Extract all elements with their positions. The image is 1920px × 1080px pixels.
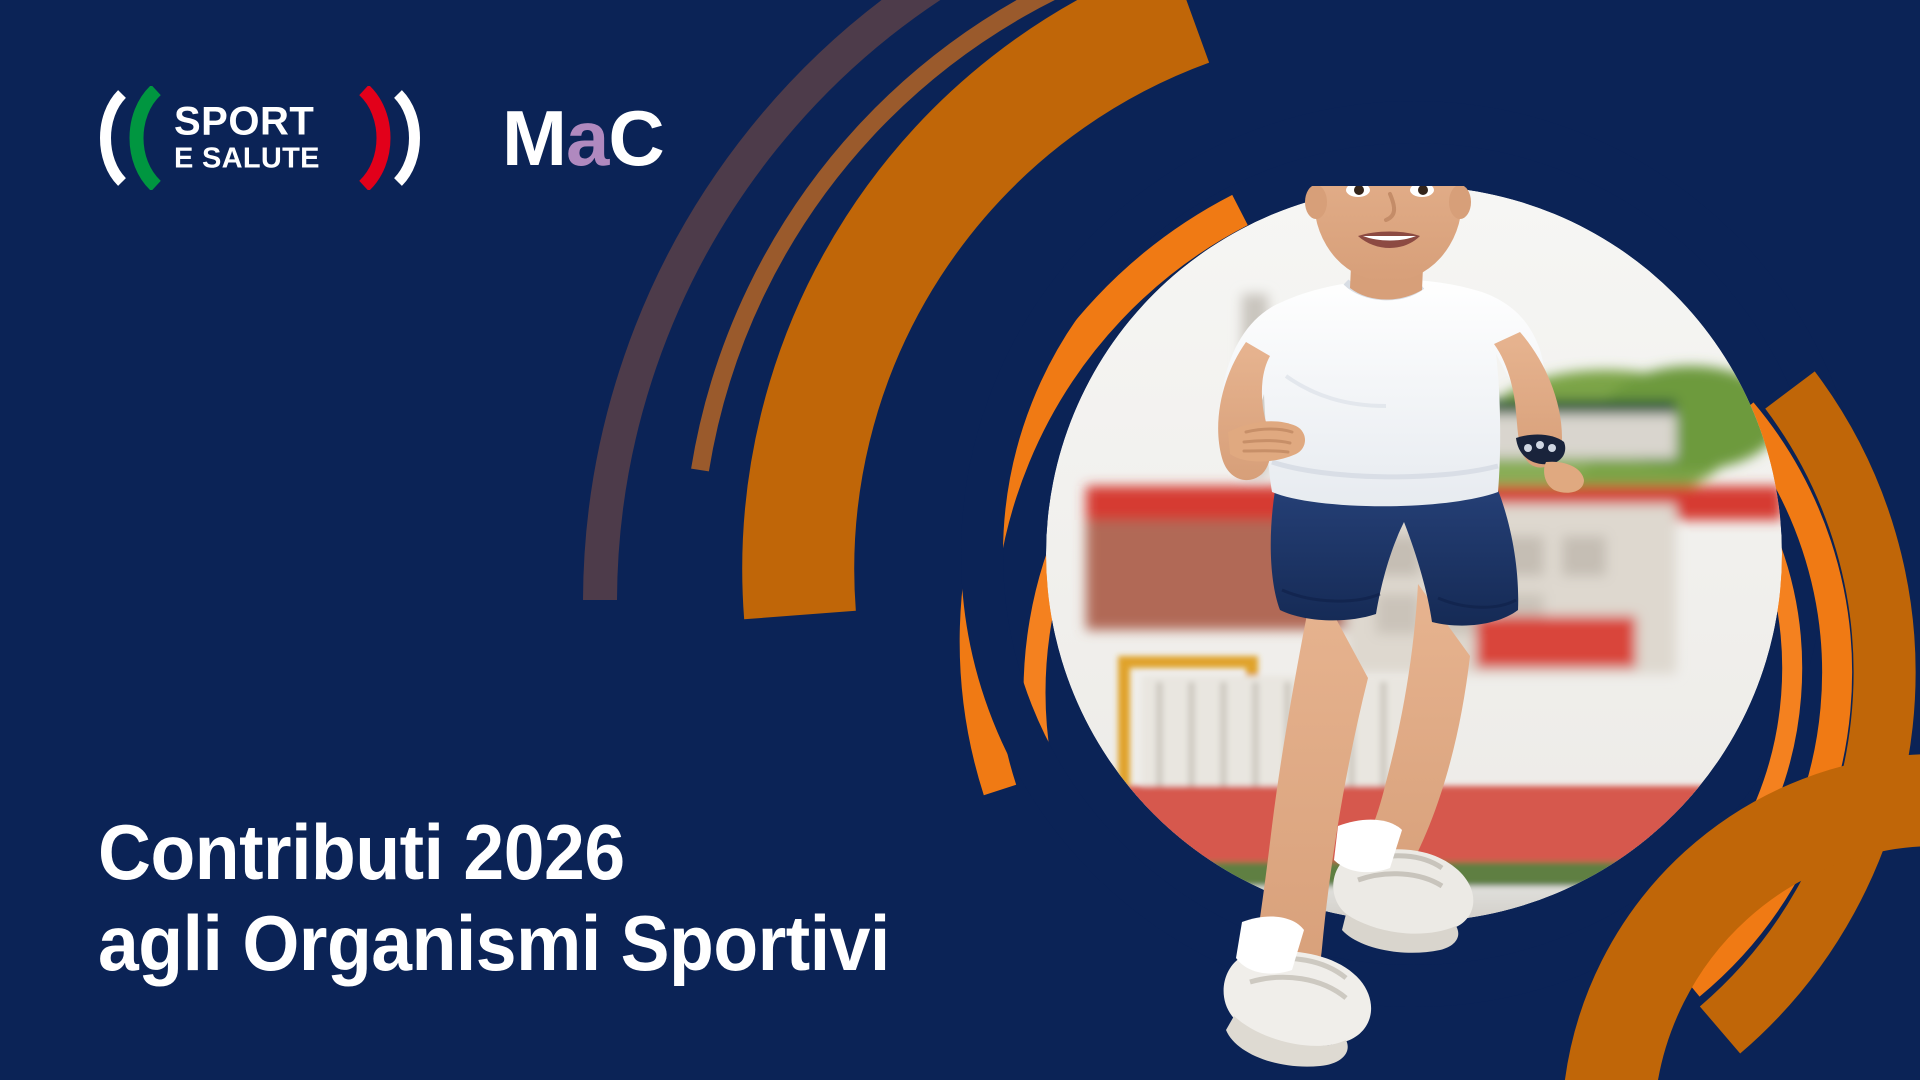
logo-arc-white-right xyxy=(398,94,415,182)
logo-arc-red xyxy=(364,90,384,186)
page-title: Contributi 2026 agli Organismi Sportivi xyxy=(98,807,890,988)
photo-inner xyxy=(1046,186,1782,922)
headline-line-2: agli Organismi Sportivi xyxy=(98,898,890,988)
logo-arc-green xyxy=(137,90,157,186)
running-boy-photo xyxy=(1046,186,1782,922)
mac-letter-c: C xyxy=(608,99,663,177)
mac-letter-m: M xyxy=(502,99,566,177)
poster-canvas: SPORT E SALUTE MaC Contributi 2026 agli … xyxy=(0,0,1920,1080)
mac-logo[interactable]: MaC xyxy=(502,99,664,177)
logo-line-esalute: E SALUTE xyxy=(174,145,320,173)
mac-letter-a: a xyxy=(566,99,608,177)
headline-line-1: Contributi 2026 xyxy=(98,807,890,897)
sport-e-salute-wordmark: SPORT E SALUTE xyxy=(174,103,320,174)
logo-arc-white-left xyxy=(106,94,123,182)
logo-line-sport: SPORT xyxy=(174,103,314,142)
logo-row: SPORT E SALUTE MaC xyxy=(96,86,664,190)
sport-e-salute-logo[interactable]: SPORT E SALUTE xyxy=(96,86,426,190)
